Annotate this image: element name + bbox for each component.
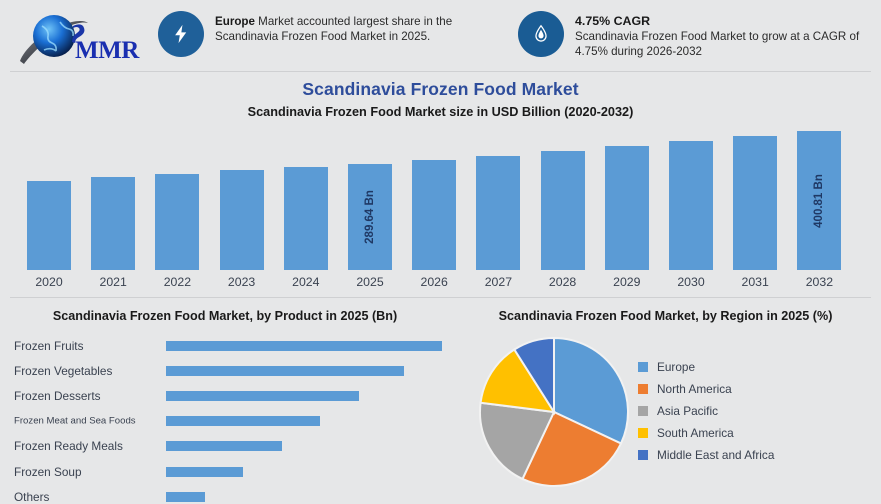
region-legend: EuropeNorth AmericaAsia PacificSouth Ame… [638,356,774,466]
legend-item: Europe [638,356,774,378]
bar-value-label-2032: 400.81 Bn [813,174,825,228]
product-bar [166,341,442,351]
product-row: Frozen Soup [0,459,460,484]
product-bar [166,441,282,451]
bar-2027: 2027 [476,156,520,270]
kpi-cagr: 4.75% CAGR Scandinavia Frozen Food Marke… [518,11,876,60]
bar-2022: 2022 [155,174,199,270]
legend-item: Middle East and Africa [638,444,774,466]
bar-column: 2020 [27,181,71,270]
bar-2025: 289.64 Bn2025 [348,164,392,270]
product-label: Frozen Meat and Sea Foods [14,416,136,427]
legend-label: North America [657,382,732,396]
bar-2030: 2030 [669,141,713,270]
bar-year-label-2029: 2029 [597,275,657,289]
bar-2029: 2029 [605,146,649,270]
bar-year-label-2025: 2025 [340,275,400,289]
product-label: Frozen Fruits [14,339,84,353]
section-divider [10,297,871,298]
product-bar [166,366,404,376]
kpi-cagr-body: Scandinavia Frozen Food Market to grow a… [575,30,859,58]
legend-swatch-icon [638,450,648,460]
legend-swatch-icon [638,406,648,416]
bar-column: 400.81 Bn2032 [797,131,841,270]
brand-logo: MMR [14,6,154,68]
market-size-bar-chart: 20202021202220232024289.64 Bn20252026202… [0,126,881,292]
product-label: Frozen Vegetables [14,364,112,378]
bar-year-label-2027: 2027 [468,275,528,289]
bar-year-label-2023: 2023 [212,275,272,289]
legend-label: South America [657,426,734,440]
product-row: Others [0,484,460,504]
product-label: Frozen Desserts [14,389,101,403]
product-bar [166,467,243,477]
kpi-cagr-text: 4.75% CAGR Scandinavia Frozen Food Marke… [575,11,876,60]
bar-year-label-2026: 2026 [404,275,464,289]
bar-column: 2031 [733,136,777,270]
bar-column: 2022 [155,174,199,270]
region-pie-chart [478,336,630,488]
page-title: Scandinavia Frozen Food Market [0,79,881,100]
water-drop-icon [518,11,564,57]
globe-logo-icon: MMR [14,6,154,68]
bar-year-label-2020: 2020 [19,275,79,289]
product-bar [166,391,359,401]
bar-2021: 2021 [91,177,135,270]
bar-column: 2029 [605,146,649,270]
bar-year-label-2031: 2031 [725,275,785,289]
bar-year-label-2032: 2032 [789,275,849,289]
region-panel: Scandinavia Frozen Food Market, by Regio… [450,300,881,504]
legend-swatch-icon [638,362,648,372]
product-label: Others [14,490,49,504]
bar-2024: 2024 [284,167,328,270]
legend-swatch-icon [638,384,648,394]
bar-2026: 2026 [412,160,456,270]
bar-2031: 2031 [733,136,777,270]
product-chart-title: Scandinavia Frozen Food Market, by Produ… [0,309,450,323]
legend-swatch-icon [638,428,648,438]
product-bar [166,492,205,502]
legend-label: Europe [657,360,695,374]
product-row: Frozen Vegetables [0,358,460,383]
product-panel: Scandinavia Frozen Food Market, by Produ… [0,300,460,504]
bar-2028: 2028 [541,151,585,270]
kpi-europe-share: Europe Market accounted largest share in… [158,11,503,57]
legend-label: Middle East and Africa [657,448,774,462]
bar-column: 2024 [284,167,328,270]
bar-year-label-2028: 2028 [533,275,593,289]
product-bar [166,416,320,426]
bar-column: 2023 [220,170,264,270]
bar-year-label-2022: 2022 [147,275,207,289]
bar-year-label-2024: 2024 [276,275,336,289]
bar-column: 289.64 Bn2025 [348,164,392,270]
kpi-europe-text: Europe Market accounted largest share in… [215,11,503,44]
page-subtitle: Scandinavia Frozen Food Market size in U… [0,105,881,119]
header: MMR Europe Market accounted largest shar… [0,0,881,70]
product-row: Frozen Desserts [0,383,460,408]
bar-2020: 2020 [27,181,71,270]
infographic-page: MMR Europe Market accounted largest shar… [0,0,881,504]
legend-label: Asia Pacific [657,404,718,418]
bar-column: 2030 [669,141,713,270]
product-row: Frozen Ready Meals [0,434,460,459]
region-chart-title: Scandinavia Frozen Food Market, by Regio… [450,309,881,323]
legend-item: North America [638,378,774,400]
legend-item: Asia Pacific [638,400,774,422]
bar-column: 2028 [541,151,585,270]
bar-column: 2027 [476,156,520,270]
bar-2023: 2023 [220,170,264,270]
bar-value-label-2025: 289.64 Bn [364,190,376,244]
header-divider [10,71,871,72]
bar-column: 2026 [412,160,456,270]
bar-year-label-2021: 2021 [83,275,143,289]
product-row: Frozen Fruits [0,333,460,358]
bar-year-label-2030: 2030 [661,275,721,289]
product-label: Frozen Soup [14,465,82,479]
bar-2032: 400.81 Bn2032 [797,131,841,270]
kpi-europe-highlight: Europe [215,15,255,28]
legend-item: South America [638,422,774,444]
kpi-cagr-value: 4.75% CAGR [575,14,876,29]
product-label: Frozen Ready Meals [14,439,123,453]
lightning-bolt-icon [158,11,204,57]
brand-wordmark: MMR [75,37,140,64]
bar-column: 2021 [91,177,135,270]
product-row: Frozen Meat and Sea Foods [0,409,460,434]
